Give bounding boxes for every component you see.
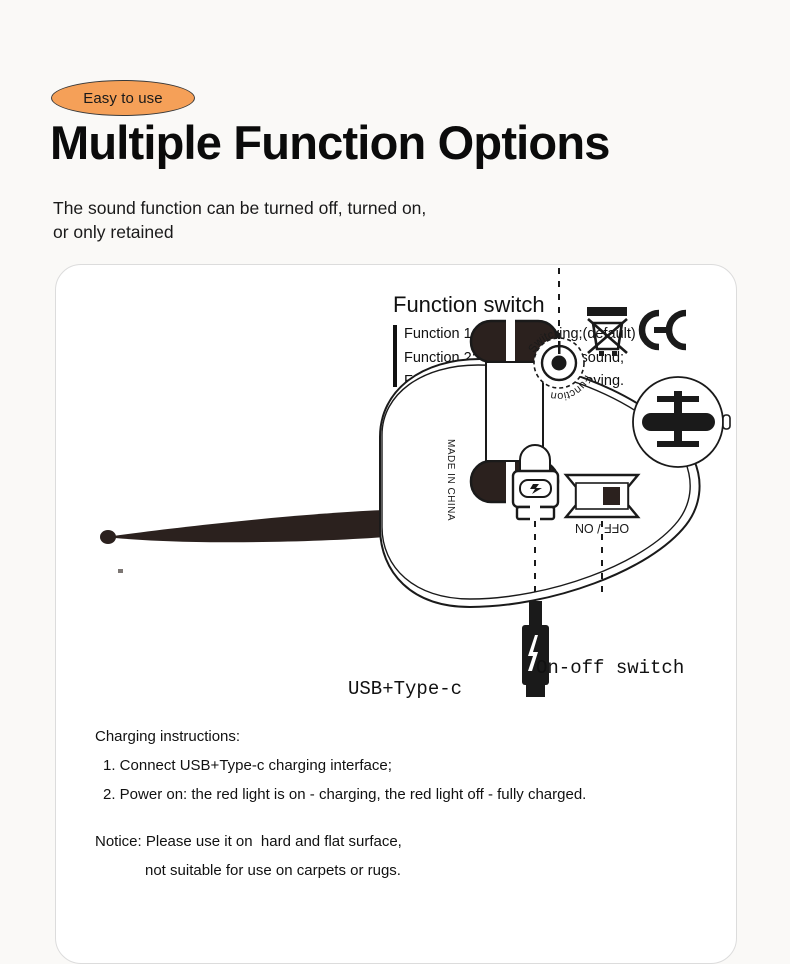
usb-c-port-icon bbox=[513, 445, 558, 521]
battery-cover-icon bbox=[633, 377, 730, 467]
accent-bar bbox=[393, 325, 397, 387]
easy-to-use-badge: Easy to use bbox=[51, 80, 195, 116]
function-option-1: Function 1: sound+ moving;(default) bbox=[404, 323, 636, 347]
charging-instructions: Charging instructions: 1. Connect USB+Ty… bbox=[95, 722, 715, 809]
off-on-label: OFF / ON bbox=[575, 521, 629, 535]
charging-step-1: 1. Connect USB+Type-c charging interface… bbox=[95, 751, 715, 780]
on-off-switch-callout-label: On-off switch bbox=[536, 657, 684, 679]
product-info-card: Function switch Function 1: sound+ movin… bbox=[55, 264, 737, 964]
notice-line-1: Notice: Please use it on hard and flat s… bbox=[95, 827, 402, 856]
function-option-2: Function 2: moving without sound; bbox=[404, 347, 636, 371]
mouse-tail-icon bbox=[100, 510, 386, 544]
function-option-3: Function 3: sound without moving. bbox=[404, 370, 636, 394]
page-subtitle: The sound function can be turned off, tu… bbox=[53, 196, 426, 244]
function-option-list: Function 1: sound+ moving;(default) Func… bbox=[393, 323, 636, 394]
notice-line-2: not suitable for use on carpets or rugs. bbox=[95, 856, 402, 885]
made-in-china-label: MADE IN CHINA bbox=[445, 439, 456, 521]
function-switch-title: Function switch bbox=[393, 292, 636, 318]
on-off-switch-icon: OFF / ON bbox=[566, 475, 638, 535]
usage-notice: Notice: Please use it on hard and flat s… bbox=[95, 827, 402, 885]
device-body-outline bbox=[380, 359, 700, 607]
badge-label: Easy to use bbox=[83, 90, 162, 107]
ce-mark-icon bbox=[642, 313, 686, 347]
usb-type-c-callout-label: USB+Type-c bbox=[348, 678, 462, 700]
usb-c-plug-graphic bbox=[522, 601, 549, 697]
charging-step-2: 2. Power on: the red light is on - charg… bbox=[95, 780, 715, 809]
page-title: Multiple Function Options bbox=[50, 118, 610, 169]
function-switch-callout: Function switch Function 1: sound+ movin… bbox=[393, 292, 636, 394]
charging-heading: Charging instructions: bbox=[95, 722, 715, 751]
